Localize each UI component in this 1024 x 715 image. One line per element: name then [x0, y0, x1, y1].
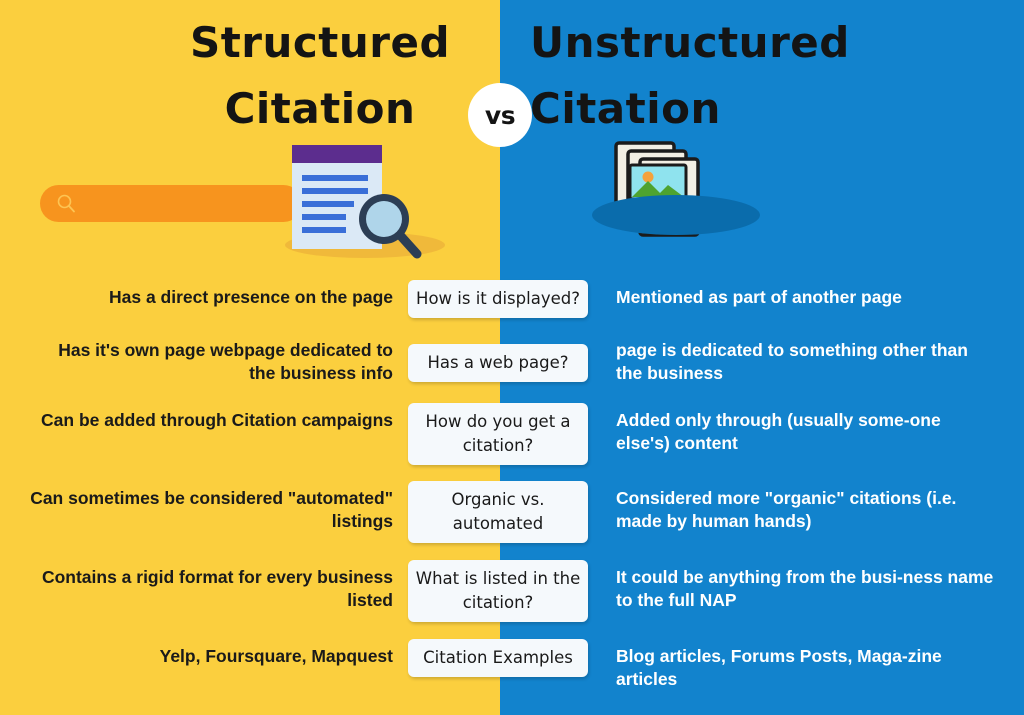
vs-badge-label: vs: [485, 101, 515, 130]
document-text-line: [302, 214, 346, 220]
row-left-text: Can sometimes be considered "automated" …: [30, 487, 393, 533]
document-text-line: [302, 175, 368, 181]
row-center-label: Citation Examples: [408, 639, 588, 677]
row-right-text: Blog articles, Forums Posts, Maga-zine a…: [616, 645, 998, 691]
left-panel-title: Structured Citation: [150, 10, 490, 142]
search-icon: [56, 193, 76, 213]
row-left-text: Has a direct presence on the page: [30, 286, 393, 309]
structured-citation-illustration: [40, 140, 460, 265]
row-right-text: page is dedicated to something other tha…: [616, 339, 998, 385]
row-left-text: Can be added through Citation campaigns: [30, 409, 393, 432]
document-text-line: [302, 227, 346, 233]
row-right-text: Added only through (usually some-one els…: [616, 409, 998, 455]
row-center-label: How do you get a citation?: [408, 403, 588, 465]
documents-shadow: [592, 195, 760, 235]
image-placeholder-icon: [630, 165, 686, 199]
document-header-bar: [292, 145, 382, 163]
row-center-label: How is it displayed?: [408, 280, 588, 318]
row-center-label: Organic vs. automated: [408, 481, 588, 543]
unstructured-citation-illustration: [580, 135, 780, 260]
row-left-text: Contains a rigid format for every busine…: [30, 566, 393, 612]
magnifier-icon: [355, 190, 425, 262]
row-left-text: Yelp, Foursquare, Mapquest: [30, 645, 393, 668]
row-center-label: Has a web page?: [408, 344, 588, 382]
row-left-text: Has it's own page webpage dedicated to t…: [30, 339, 393, 385]
document-text-line: [302, 201, 354, 207]
infographic-root: Structured Citation Unstructured Citatio…: [0, 0, 1024, 715]
row-right-text: It could be anything from the busi-ness …: [616, 566, 998, 612]
right-panel-title: Unstructured Citation: [520, 10, 920, 142]
search-bar-graphic: [40, 185, 302, 222]
row-right-text: Mentioned as part of another page: [616, 286, 998, 309]
row-right-text: Considered more "organic" citations (i.e…: [616, 487, 998, 533]
vs-badge: vs: [468, 83, 532, 147]
row-center-label: What is listed in the citation?: [408, 560, 588, 622]
